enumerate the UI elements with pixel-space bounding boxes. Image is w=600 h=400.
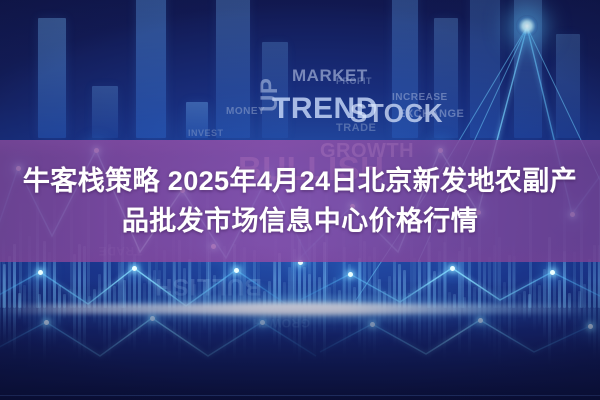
vignette-overlay [0,0,600,400]
banner-image: MARKETTRENDSTOCKGROWTHUPBULLISHINCREASEE… [0,0,600,400]
